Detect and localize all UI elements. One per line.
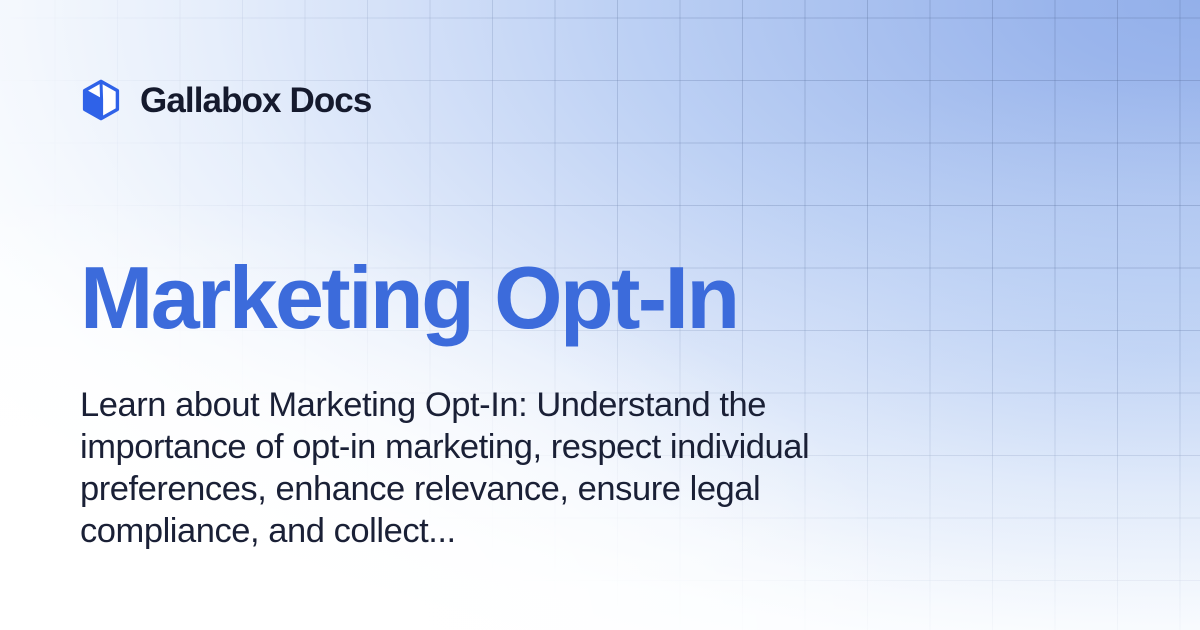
page-description: Learn about Marketing Opt-In: Understand…: [80, 384, 850, 552]
cube-icon: [79, 78, 123, 122]
social-card: Gallabox Docs Marketing Opt-In Learn abo…: [0, 0, 1200, 630]
brand-lockup: Gallabox Docs: [79, 76, 371, 124]
card-content: Gallabox Docs Marketing Opt-In Learn abo…: [0, 0, 1200, 630]
brand-name: Gallabox Docs: [140, 83, 371, 118]
page-title: Marketing Opt-In: [80, 253, 1100, 344]
